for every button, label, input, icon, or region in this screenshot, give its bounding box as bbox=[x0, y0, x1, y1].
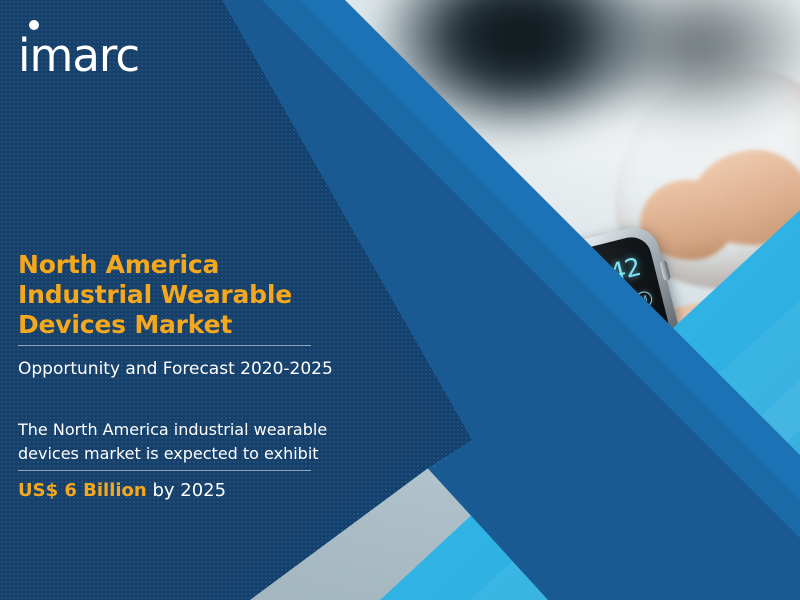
report-title: North America Industrial Wearable Device… bbox=[18, 250, 348, 340]
report-blurb: The North America industrial wearable de… bbox=[18, 418, 378, 466]
logo-wordmark: imarc bbox=[18, 33, 139, 78]
banner-content: imarc North America Industrial Wearable … bbox=[0, 0, 800, 600]
divider-title bbox=[18, 345, 311, 346]
imarc-logo[interactable]: imarc bbox=[18, 20, 158, 76]
divider-highlight bbox=[18, 470, 311, 471]
market-value-highlight: US$ 6 Billion by 2025 bbox=[18, 479, 226, 503]
report-banner: 12 5:42 5:00-6:00PM WiFi William Site 17… bbox=[0, 0, 800, 600]
market-value-year: by 2025 bbox=[147, 480, 226, 501]
report-subtitle: Opportunity and Forecast 2020-2025 bbox=[18, 358, 333, 380]
market-value: US$ 6 Billion bbox=[18, 480, 147, 501]
